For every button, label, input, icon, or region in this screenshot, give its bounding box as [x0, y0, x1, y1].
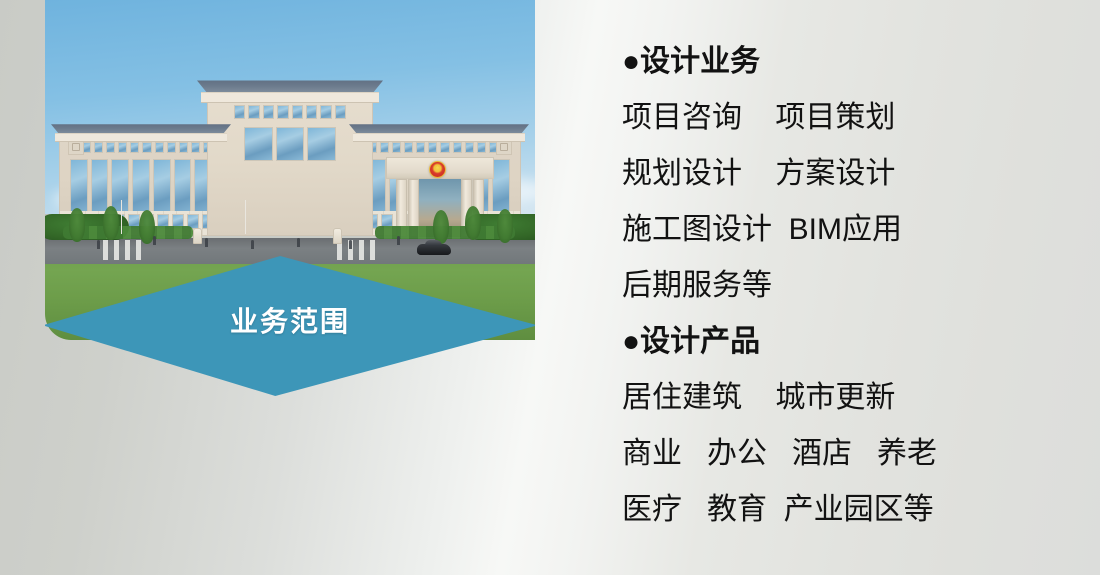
window-band — [70, 142, 212, 153]
pedestrian — [397, 236, 400, 245]
cornice — [55, 133, 227, 142]
content-column: ●设计业务 项目咨询 项目策划 规划设计 方案设计 施工图设计 BIM应用 后期… — [622, 34, 1052, 538]
product-line-1: 居住建筑 城市更新 — [622, 370, 1052, 426]
window-band — [234, 105, 346, 119]
pedestrian — [153, 236, 156, 245]
window-band — [368, 142, 510, 153]
cornice — [353, 133, 525, 142]
crosswalk — [337, 240, 379, 260]
window-band — [244, 127, 336, 161]
pedestrian — [97, 240, 100, 249]
business-scope-banner-label: 业务范围 — [45, 300, 535, 340]
building-central-block — [207, 86, 373, 236]
roof-left-wing — [51, 122, 231, 133]
product-line-2: 商业 办公 酒店 养老 — [622, 426, 1052, 482]
stone-lion — [193, 228, 202, 244]
service-line-4: 后期服务等 — [622, 258, 1052, 314]
section-heading-design-services: ●设计业务 — [622, 34, 1052, 90]
national-emblem-icon — [429, 161, 446, 178]
crosswalk — [103, 240, 145, 260]
car — [417, 244, 451, 255]
service-line-2: 规划设计 方案设计 — [622, 146, 1052, 202]
building-massing — [59, 86, 521, 236]
stone-lion — [333, 228, 342, 244]
pedestrian — [349, 240, 352, 249]
roof-right-wing — [349, 122, 529, 133]
section-heading-design-products: ●设计产品 — [622, 314, 1052, 370]
tree — [465, 206, 481, 240]
tree — [497, 209, 513, 243]
tree — [69, 208, 85, 242]
flagpole — [245, 200, 246, 234]
pedestrian — [251, 240, 254, 249]
tree — [103, 206, 119, 240]
service-line-1: 项目咨询 项目策划 — [622, 90, 1052, 146]
pedestrian — [297, 238, 300, 247]
portico-lintel — [386, 157, 494, 179]
slide-root: 业务范围 ●设计业务 项目咨询 项目策划 规划设计 方案设计 施工图设计 BIM… — [0, 0, 1100, 575]
tree — [433, 210, 449, 244]
flagpole — [121, 200, 122, 234]
window-band — [70, 159, 212, 217]
cornice — [201, 92, 379, 103]
service-line-3: 施工图设计 BIM应用 — [622, 202, 1052, 258]
pedestrian — [205, 238, 208, 247]
product-line-3: 医疗 教育 产业园区等 — [622, 482, 1052, 538]
